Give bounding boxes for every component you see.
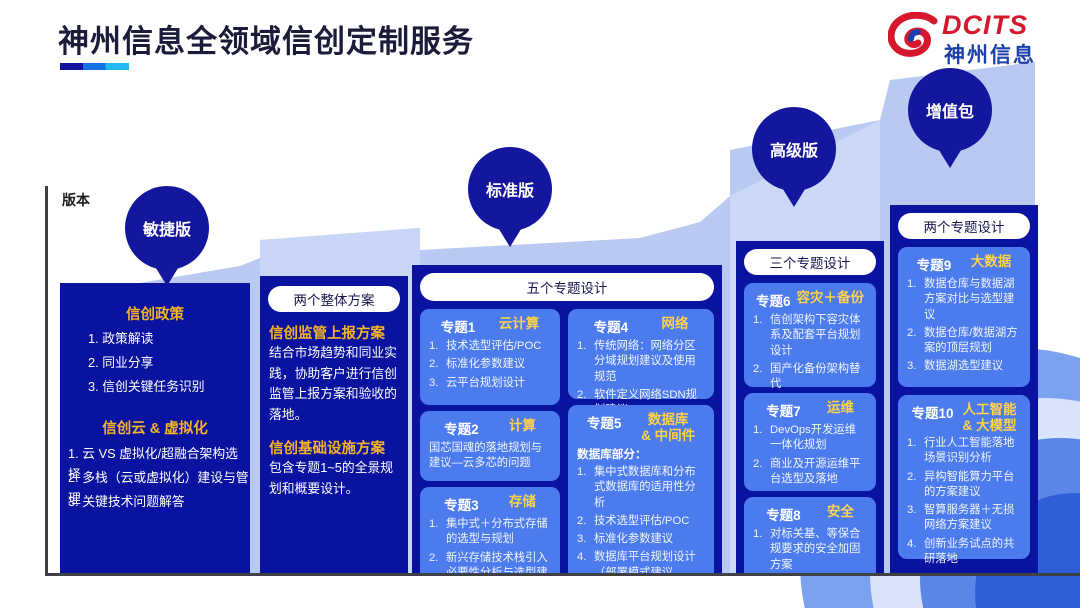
topic-6-item: 1.信创架构下容灾体系及配套平台规划设计 — [753, 313, 867, 359]
topic-5-item: 3.标准化参数建议 — [577, 532, 705, 547]
section-item-policy-1: 1. 政策解读 — [88, 329, 250, 350]
pin-marker-agile[interactable]: 敏捷版 — [125, 186, 209, 270]
pin-marker-valueadd[interactable]: 增值包 — [908, 68, 992, 152]
pin-label-agile: 敏捷版 — [143, 216, 191, 240]
topic-10-item: 3.智算服务器＋无损网络方案建议 — [907, 503, 1021, 534]
topic-7-item: 1.DevOps开发运维一体化规划 — [753, 423, 867, 454]
topic-4-tag: 网络 — [661, 316, 688, 332]
pill-three-topics: 三个专题设计 — [744, 249, 876, 275]
topic-10-number: 专题10 — [911, 402, 953, 422]
section-heading-policy: 信创政策 — [60, 303, 250, 324]
topic-1-number: 专题1 — [441, 316, 476, 336]
topic-5-item: 4.数据库平台规划设计（部署模式建议 DBaaS／云上PaaS） — [577, 550, 705, 573]
logo-wordmark-en: DCITS — [942, 10, 1028, 41]
topic-9-number: 专题9 — [917, 254, 952, 274]
topic-8-item: 1.对标关基、等保合规要求的安全加固方案 — [753, 527, 867, 573]
topic-2-tag: 计算 — [509, 418, 536, 434]
pin-label-standard: 标准版 — [486, 177, 534, 201]
topic-card-1[interactable]: 专题1 云计算 1.技术选型评估/POC 2.标准化参数建议 3.云平台规划设计 — [420, 309, 560, 405]
dcits-swirl-icon — [888, 12, 940, 62]
topic-5-sub-db: 数据库部分： — [577, 446, 705, 462]
topic-card-7[interactable]: 专题7 运维 1.DevOps开发运维一体化规划 2.商业及开源运维平台选型及落… — [744, 393, 876, 491]
column-standard: 五个专题设计 专题1 云计算 1.技术选型评估/POC 2.标准化参数建议 3.… — [412, 265, 722, 573]
topic-card-9[interactable]: 专题9 大数据 1.数据仓库与数据湖方案对比与选型建议 2.数据仓库/数据湖方案… — [898, 247, 1030, 387]
topic-6-number: 专题6 — [756, 290, 791, 310]
block-heading-infrastructure: 信创基础设施方案 — [269, 437, 401, 458]
topic-7-item: 2.商业及开源运维平台选型及落地 — [753, 457, 867, 488]
column-overall-solutions: 两个整体方案 信创监管上报方案 结合市场趋势和同业实践，协助客户进行信创监管上报… — [260, 276, 408, 573]
topic-card-5[interactable]: 专题5 数据库 & 中间件 数据库部分： 1.集中式数据库和分布式数据库的适用性… — [568, 405, 714, 573]
pin-label-valueadd: 增值包 — [926, 98, 974, 122]
topic-3-number: 专题3 — [444, 494, 479, 514]
pin-marker-advanced[interactable]: 高级版 — [752, 107, 836, 191]
topic-3-item: 1.集中式＋分布式存储的选型与规划 — [429, 517, 551, 548]
topic-8-number: 专题8 — [766, 504, 801, 524]
block-heading-supervision: 信创监管上报方案 — [269, 322, 401, 343]
topic-1-tag: 云计算 — [499, 316, 540, 332]
topic-10-item: 1.行业人工智能落地场景识别分析 — [907, 436, 1021, 467]
column-advanced: 三个专题设计 专题6 容灾＋备份 1.信创架构下容灾体系及配套平台规划设计 2.… — [736, 241, 884, 573]
topic-2-text: 国芯国魂的落地规划与建议—云多芯的问题 — [429, 441, 551, 472]
topic-7-tag: 运维 — [827, 400, 854, 416]
axis-vertical-line — [45, 186, 48, 576]
topic-card-2[interactable]: 专题2 计算 国芯国魂的落地规划与建议—云多芯的问题 — [420, 411, 560, 481]
section-heading-cloud: 信创云 & 虚拟化 — [60, 417, 250, 438]
pin-label-advanced: 高级版 — [770, 137, 818, 161]
topic-9-item: 3.数据湖选型建议 — [907, 359, 1021, 374]
axis-horizontal-line — [45, 573, 1080, 576]
topic-1-item: 1.技术选型评估/POC — [429, 339, 551, 354]
pill-two-topics: 两个专题设计 — [898, 213, 1030, 239]
page-title: 神州信息全领域信创定制服务 — [58, 16, 474, 61]
topic-4-number: 专题4 — [594, 316, 629, 336]
topic-3-tag: 存储 — [509, 494, 536, 510]
column-value-added: 两个专题设计 专题9 大数据 1.数据仓库与数据湖方案对比与选型建议 2.数据仓… — [890, 205, 1038, 573]
axis-label-version: 版本 — [62, 190, 90, 210]
topic-9-item: 2.数据仓库/数据湖方案的顶层规划 — [907, 326, 1021, 357]
topic-10-item: 2.异构智能算力平台的方案建议 — [907, 470, 1021, 501]
topic-card-6[interactable]: 专题6 容灾＋备份 1.信创架构下容灾体系及配套平台规划设计 2.国产化备份架构… — [744, 283, 876, 387]
slide-canvas: 神州信息全领域信创定制服务 DCITS 神州信息 版本 方案 敏捷版 信创政策 … — [0, 0, 1080, 608]
topic-7-number: 专题7 — [766, 400, 801, 420]
topic-10-item: 4.创新业务试点的共研落地 — [907, 537, 1021, 568]
dcits-logo: DCITS 神州信息 — [888, 8, 1064, 68]
column-agile: 信创政策 1. 政策解读 2. 同业分享 3. 信创关键任务识别 信创云 & 虚… — [60, 283, 250, 573]
topic-1-item: 2.标准化参数建议 — [429, 357, 551, 372]
topic-6-item: 2.国产化备份架构替代 — [753, 362, 867, 393]
topic-5-tag: 数据库 & 中间件 — [641, 412, 695, 443]
title-underline-rule — [60, 63, 129, 70]
topic-3-item: 2.新兴存储技术栈引入必要性分析与选型建议（如对象存储） — [429, 551, 551, 574]
topic-2-number: 专题2 — [444, 418, 479, 438]
topic-5-number: 专题5 — [587, 412, 622, 432]
topic-card-8[interactable]: 专题8 安全 1.对标关基、等保合规要求的安全加固方案 2.云原生基础架构一体化… — [744, 497, 876, 573]
topic-card-4[interactable]: 专题4 网络 1.传统网络：网络分区分域规划建议及使用规范 2.软件定义网络SD… — [568, 309, 714, 399]
topic-6-tag: 容灾＋备份 — [796, 290, 864, 306]
topic-5-item: 2.技术选型评估/POC — [577, 514, 705, 529]
topic-1-item: 3.云平台规划设计 — [429, 376, 551, 391]
topic-10-tag: 人工智能 & 大模型 — [963, 402, 1017, 433]
pill-five-topics: 五个专题设计 — [420, 273, 714, 301]
section-item-policy-3: 3. 信创关键任务识别 — [88, 377, 250, 398]
topic-4-item: 1.传统网络：网络分区分域规划建议及使用规范 — [577, 339, 705, 385]
topic-5-item: 1.集中式数据库和分布式数据库的适用性分析 — [577, 465, 705, 511]
pill-overall-solutions: 两个整体方案 — [268, 286, 400, 312]
logo-wordmark-cn: 神州信息 — [944, 39, 1036, 69]
section-item-policy-2: 2. 同业分享 — [88, 353, 250, 374]
pin-marker-standard[interactable]: 标准版 — [468, 147, 552, 231]
topic-card-3[interactable]: 专题3 存储 1.集中式＋分布式存储的选型与规划 2.新兴存储技术栈引入必要性分… — [420, 487, 560, 573]
topic-9-tag: 大数据 — [971, 254, 1012, 270]
section-item-cloud-3: 3. 关键技术问题解答 — [68, 492, 250, 513]
block-text-supervision: 结合市场趋势和同业实践，协助客户进行信创监管上报方案和验收的落地。 — [269, 343, 403, 426]
topic-card-10[interactable]: 专题10 人工智能 & 大模型 1.行业人工智能落地场景识别分析 2.异构智能算… — [898, 395, 1030, 559]
topic-9-item: 1.数据仓库与数据湖方案对比与选型建议 — [907, 277, 1021, 323]
block-text-infrastructure: 包含专题1~5的全景规划和概要设计。 — [269, 458, 403, 499]
topic-8-tag: 安全 — [827, 504, 854, 520]
